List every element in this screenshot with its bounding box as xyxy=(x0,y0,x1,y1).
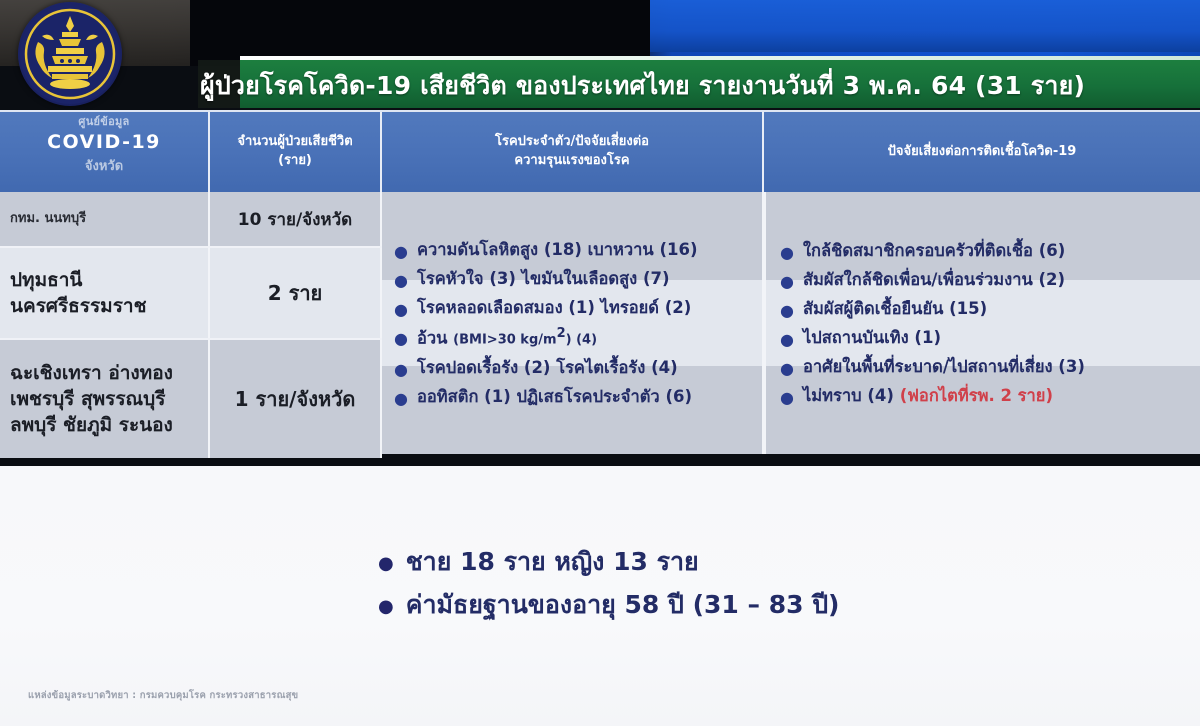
summary-text-age: ค่ามัธยฐานของอายุ 58 ปี (31 – 83 ปี) xyxy=(406,589,840,622)
obesity-prefix: อ้วน xyxy=(417,328,453,347)
risk-factor-item: ● ไปสถานบันเทิง (1) xyxy=(780,327,1192,348)
deaths-table: ศูนย์ข้อมูล COVID-19 จังหวัด จำนวนผู้ป่ว… xyxy=(0,110,1200,458)
ministry-emblem xyxy=(10,2,130,106)
province-name: ลพบุรี ชัยภูมิ ระนอง xyxy=(10,412,198,438)
cell-count: 10 ราย/จังหวัด xyxy=(210,192,382,246)
column-header-count-line2: (ราย) xyxy=(278,152,312,171)
column-header-risk: ปัจจัยเสี่ยงต่อการติดเชื้อโควิด-19 xyxy=(764,112,1200,192)
bullet-icon: ● xyxy=(378,598,394,616)
obesity-detail: (BMI>30 kg/m xyxy=(453,332,556,347)
bullet-icon: ● xyxy=(780,274,794,290)
comorbidity-text: โรคหัวใจ (3) ไขมันในเลือดสูง (7) xyxy=(417,268,670,289)
brand-line-1: ศูนย์ข้อมูล xyxy=(0,114,208,130)
risk-factor-item: ● สัมผัสผู้ติดเชื้อยืนยัน (15) xyxy=(780,298,1192,319)
cell-province: กทม. นนทบุรี xyxy=(0,192,210,246)
covid-data-center-watermark: ศูนย์ข้อมูล COVID-19 xyxy=(0,114,208,156)
emblem-glyph xyxy=(18,2,122,106)
unknown-note: (ฟอกไตที่รพ. 2 ราย) xyxy=(900,386,1053,405)
risk-factor-item-unknown: ● ไม่ทราบ (4) (ฟอกไตที่รพ. 2 ราย) xyxy=(780,385,1192,406)
summary-item: ● ค่ามัธยฐานของอายุ 58 ปี (31 – 83 ปี) xyxy=(378,589,839,622)
cell-count: 1 ราย/จังหวัด xyxy=(210,340,382,458)
comorbidity-text-obesity: อ้วน (BMI>30 kg/m2) (4) xyxy=(417,326,597,349)
comorbidity-text: โรคหลอดเลือดสมอง (1) ไทรอยด์ (2) xyxy=(417,297,691,318)
column-header-comorbidity-line2: ความรุนแรงของโรค xyxy=(514,152,629,171)
risk-factor-item: ● อาศัยในพื้นที่ระบาด/ไปสถานที่เสี่ยง (3… xyxy=(780,356,1192,377)
brand-line-2: COVID-19 xyxy=(0,129,208,157)
cell-count: 2 ราย xyxy=(210,248,382,338)
bullet-icon: ● xyxy=(394,391,408,407)
page-title: ผู้ป่วยโรคโควิด-19 เสียชีวิต ของประเทศไท… xyxy=(200,66,1200,106)
column-header-comorbidity: โรคประจำตัว/ปัจจัยเสี่ยงต่อ ความรุนแรงขอ… xyxy=(382,112,764,192)
backdrop-blue-screen xyxy=(640,0,1200,52)
risk-factor-item: ● สัมผัสใกล้ชิดเพื่อน/เพื่อนร่วมงาน (2) xyxy=(780,269,1192,290)
comorbidity-item: ● โรคหัวใจ (3) ไขมันในเลือดสูง (7) xyxy=(394,268,754,289)
count-value: 10 ราย/จังหวัด xyxy=(238,206,352,233)
column-header-count-line1: จำนวนผู้ป่วยเสียชีวิต xyxy=(237,133,352,152)
bullet-icon: ● xyxy=(394,331,408,347)
risk-factor-text: อาศัยในพื้นที่ระบาด/ไปสถานที่เสี่ยง (3) xyxy=(803,356,1085,377)
bullet-icon: ● xyxy=(394,244,408,260)
comorbidity-item: ● โรคหลอดเลือดสมอง (1) ไทรอยด์ (2) xyxy=(394,297,754,318)
table-header-row: ศูนย์ข้อมูล COVID-19 จังหวัด จำนวนผู้ป่ว… xyxy=(0,110,1200,192)
comorbidity-item-obesity: ● อ้วน (BMI>30 kg/m2) (4) xyxy=(394,326,754,349)
cell-province: ฉะเชิงเทรา อ่างทอง เพชรบุรี สุพรรณบุรี ล… xyxy=(0,340,210,458)
bullet-icon: ● xyxy=(780,361,794,377)
risk-factor-text: สัมผัสผู้ติดเชื้อยืนยัน (15) xyxy=(803,298,987,319)
comorbidity-text: ความดันโลหิตสูง (18) เบาหวาน (16) xyxy=(417,239,698,260)
cell-comorbidities: ● ความดันโลหิตสูง (18) เบาหวาน (16) ● โร… xyxy=(382,192,764,454)
column-header-count: จำนวนผู้ป่วยเสียชีวิต (ราย) xyxy=(210,112,382,192)
cell-province: ปทุมธานี นครศรีธรรมราช xyxy=(0,248,210,338)
bullet-icon: ● xyxy=(394,362,408,378)
column-header-province-label: จังหวัด xyxy=(85,158,123,177)
table-row: กทม. นนทบุรี 10 ราย/จังหวัด xyxy=(0,192,382,248)
table-body-left: กทม. นนทบุรี 10 ราย/จังหวัด ปทุมธานี นคร… xyxy=(0,192,382,458)
risk-factor-text-unknown: ไม่ทราบ (4) (ฟอกไตที่รพ. 2 ราย) xyxy=(803,385,1053,406)
province-name: ฉะเชิงเทรา อ่างทอง xyxy=(10,360,198,386)
risk-factor-item: ● ใกล้ชิดสมาชิกครอบครัวที่ติดเชื้อ (6) xyxy=(780,240,1192,261)
comorbidity-text: ออทิสติก (1) ปฏิเสธโรคประจำตัว (6) xyxy=(417,386,692,407)
bullet-icon: ● xyxy=(780,303,794,319)
source-footer: แหล่งข้อมูลระบาดวิทยา : กรมควบคุมโรค กระ… xyxy=(28,688,298,703)
bullet-icon: ● xyxy=(780,390,794,406)
comorbidity-item: ● ออทิสติก (1) ปฏิเสธโรคประจำตัว (6) xyxy=(394,386,754,407)
bullet-icon: ● xyxy=(378,555,394,573)
comorbidity-item: ● ความดันโลหิตสูง (18) เบาหวาน (16) xyxy=(394,239,754,260)
risk-factor-text: สัมผัสใกล้ชิดเพื่อน/เพื่อนร่วมงาน (2) xyxy=(803,269,1065,290)
province-name: นครศรีธรรมราช xyxy=(10,293,198,319)
slide-root: ผู้ป่วยโรคโควิด-19 เสียชีวิต ของประเทศไท… xyxy=(0,0,1200,726)
bullet-icon: ● xyxy=(780,245,794,261)
unknown-main: ไม่ทราบ (4) xyxy=(803,386,900,405)
count-value: 1 ราย/จังหวัด xyxy=(235,383,356,415)
summary-section: ● ชาย 18 ราย หญิง 13 ราย ● ค่ามัธยฐานของ… xyxy=(0,466,1200,726)
summary-list: ● ชาย 18 ราย หญิง 13 ราย ● ค่ามัธยฐานของ… xyxy=(378,536,839,631)
risk-factor-text: ไปสถานบันเทิง (1) xyxy=(803,327,941,348)
title-top-rule xyxy=(240,56,1200,60)
risk-factor-text: ใกล้ชิดสมาชิกครอบครัวที่ติดเชื้อ (6) xyxy=(803,240,1065,261)
summary-text-sex: ชาย 18 ราย หญิง 13 ราย xyxy=(406,546,699,579)
table-row: ฉะเชิงเทรา อ่างทอง เพชรบุรี สุพรรณบุรี ล… xyxy=(0,340,382,458)
column-header-comorbidity-line1: โรคประจำตัว/ปัจจัยเสี่ยงต่อ xyxy=(495,133,649,152)
bullet-icon: ● xyxy=(394,302,408,318)
cell-risk-factors: ● ใกล้ชิดสมาชิกครอบครัวที่ติดเชื้อ (6) ●… xyxy=(764,192,1200,454)
column-header-risk-line1: ปัจจัยเสี่ยงต่อการติดเชื้อโควิด-19 xyxy=(888,143,1077,162)
column-header-province: ศูนย์ข้อมูล COVID-19 จังหวัด xyxy=(0,112,210,192)
obesity-suffix: ) (4) xyxy=(566,332,597,347)
province-name: เพชรบุรี สุพรรณบุรี xyxy=(10,386,198,412)
comorbidity-text: โรคปอดเรื้อรัง (2) โรคไตเรื้อรัง (4) xyxy=(417,357,678,378)
summary-item: ● ชาย 18 ราย หญิง 13 ราย xyxy=(378,546,839,579)
comorbidity-item: ● โรคปอดเรื้อรัง (2) โรคไตเรื้อรัง (4) xyxy=(394,357,754,378)
obesity-sup: 2 xyxy=(557,326,566,341)
province-name: ปทุมธานี xyxy=(10,267,198,293)
bullet-icon: ● xyxy=(780,332,794,348)
count-value: 2 ราย xyxy=(268,277,323,309)
province-name: กทม. นนทบุรี xyxy=(10,210,198,228)
table-row: ปทุมธานี นครศรีธรรมราช 2 ราย xyxy=(0,248,382,340)
bullet-icon: ● xyxy=(394,273,408,289)
